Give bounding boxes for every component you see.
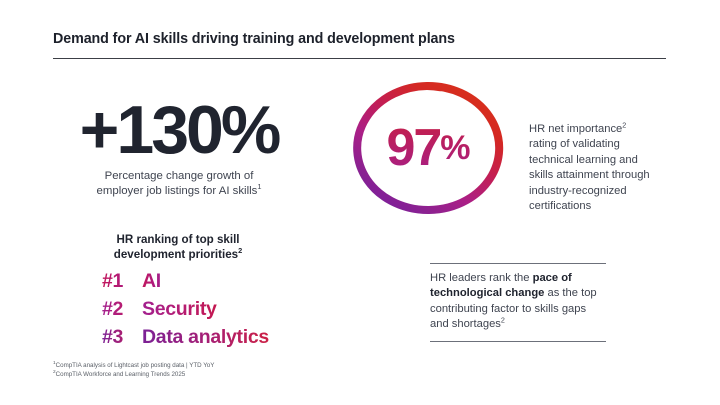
slide-canvas: Demand for AI skills driving training an… — [0, 0, 720, 405]
list-item: #1 AI — [102, 270, 269, 293]
hr-ranking-heading-line1: HR ranking of top skill — [116, 233, 239, 246]
donut-value-number: 97 — [386, 118, 440, 178]
donut-description-line2: rating of validating — [529, 138, 620, 150]
rank-label: Data analytics — [142, 326, 269, 349]
donut-description-footnote-ref: 2 — [622, 120, 626, 129]
page-title: Demand for AI skills driving training an… — [53, 31, 455, 47]
donut-description-line4: skills attainment through — [529, 169, 650, 181]
rank-label: Security — [142, 298, 217, 321]
donut-description-line5: industry-recognized — [529, 185, 627, 197]
growth-stat-caption-line1: Percentage change growth of — [105, 170, 254, 182]
hr-ranking-heading: HR ranking of top skill development prio… — [102, 232, 254, 262]
donut-description-line1: HR net importance — [529, 123, 622, 135]
growth-stat-value: +130% — [48, 98, 310, 163]
donut-description-line6: certifications — [529, 200, 591, 212]
hr-ranking-heading-line2: development priorities — [114, 248, 238, 261]
growth-stat-footnote-ref: 1 — [257, 182, 261, 191]
growth-stat-block: +130% Percentage change growth of employ… — [48, 98, 310, 199]
rank-number: #2 — [102, 298, 140, 321]
hr-ranking-list: #1 AI #2 Security #3 Data analytics — [102, 270, 269, 349]
hr-ranking-footnote-ref: 2 — [238, 246, 242, 255]
footnote-item: 2CompTIA Workforce and Learning Trends 2… — [53, 370, 214, 379]
donut-description: HR net importance2 rating of validating … — [529, 122, 679, 215]
footnotes: 1CompTIA analysis of Lightcast job posti… — [53, 361, 214, 380]
footnote-text: CompTIA analysis of Lightcast job postin… — [56, 362, 215, 369]
list-item: #3 Data analytics — [102, 326, 269, 349]
rank-number: #3 — [102, 326, 140, 349]
rank-label: AI — [142, 270, 161, 293]
hr-ranking-block: HR ranking of top skill development prio… — [102, 232, 269, 354]
footnote-text: CompTIA Workforce and Learning Trends 20… — [56, 371, 186, 378]
pace-block-bottom-divider — [430, 341, 606, 342]
donut-value-label: 97% — [352, 82, 504, 214]
footnote-item: 1CompTIA analysis of Lightcast job posti… — [53, 361, 214, 370]
pace-of-change-block: HR leaders rank the pace of technologica… — [430, 263, 606, 342]
list-item: #2 Security — [102, 298, 269, 321]
donut-chart: 97% — [352, 82, 516, 226]
pace-of-change-text: HR leaders rank the pace of technologica… — [430, 264, 606, 341]
growth-stat-caption: Percentage change growth of employer job… — [48, 169, 310, 199]
donut-value-unit: % — [440, 129, 469, 168]
donut-description-line3: technical learning and — [529, 154, 638, 166]
rank-number: #1 — [102, 270, 140, 293]
pace-text-part1: HR leaders rank the — [430, 272, 533, 284]
title-divider — [53, 58, 666, 59]
growth-stat-caption-line2: employer job listings for AI skills — [97, 185, 258, 197]
pace-footnote-ref: 2 — [501, 316, 505, 325]
